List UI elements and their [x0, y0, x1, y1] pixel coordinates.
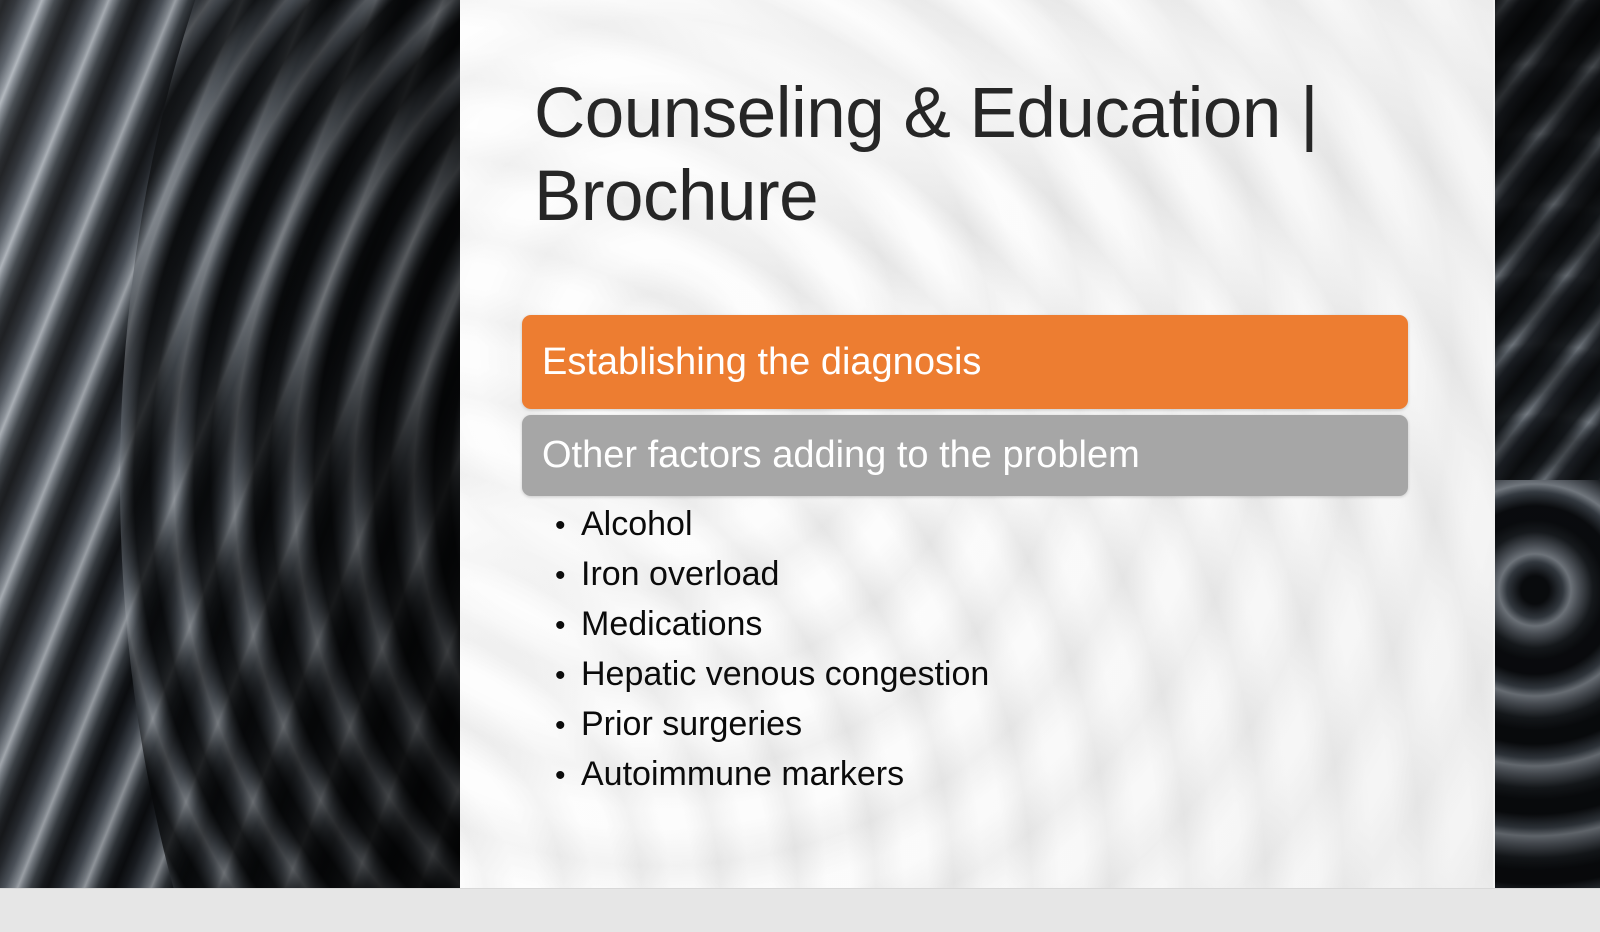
bullet-dot-icon: •: [555, 651, 581, 700]
bullet-list: • Alcohol • Iron overload • Medications …: [555, 500, 1435, 800]
banner-establishing-the-diagnosis[interactable]: Establishing the diagnosis: [522, 315, 1408, 409]
list-item: • Iron overload: [555, 550, 1435, 600]
list-item-label: Medications: [581, 600, 762, 649]
list-item: • Alcohol: [555, 500, 1435, 550]
bullet-dot-icon: •: [555, 551, 581, 600]
bullet-dot-icon: •: [555, 751, 581, 800]
banner-label: Other factors adding to the problem: [542, 434, 1140, 477]
slide-bottom-divider: [0, 888, 1600, 889]
list-item-label: Hepatic venous congestion: [581, 650, 989, 699]
slide-content: Counseling & Education | Brochure Establ…: [460, 0, 1495, 888]
banner-label: Establishing the diagnosis: [542, 341, 981, 384]
below-slide-strip: [0, 888, 1600, 932]
list-item: • Prior surgeries: [555, 700, 1435, 750]
page-title: Counseling & Education | Brochure: [534, 72, 1414, 238]
list-item: • Hepatic venous congestion: [555, 650, 1435, 700]
slide-stage: Counseling & Education | Brochure Establ…: [0, 0, 1600, 888]
list-item: • Autoimmune markers: [555, 750, 1435, 800]
bullet-dot-icon: •: [555, 701, 581, 750]
list-item-label: Iron overload: [581, 550, 779, 599]
list-item-label: Autoimmune markers: [581, 750, 904, 799]
list-item-label: Alcohol: [581, 500, 693, 549]
left-decorative-panel: [0, 0, 460, 888]
right-panel-vignette: [1495, 0, 1600, 888]
list-item-label: Prior surgeries: [581, 700, 802, 749]
left-panel-vignette: [0, 0, 460, 888]
bullet-dot-icon: •: [555, 501, 581, 550]
list-item: • Medications: [555, 600, 1435, 650]
bullet-dot-icon: •: [555, 601, 581, 650]
banner-other-factors-adding-to-the-problem[interactable]: Other factors adding to the problem: [522, 415, 1408, 496]
right-decorative-panel: [1495, 0, 1600, 888]
